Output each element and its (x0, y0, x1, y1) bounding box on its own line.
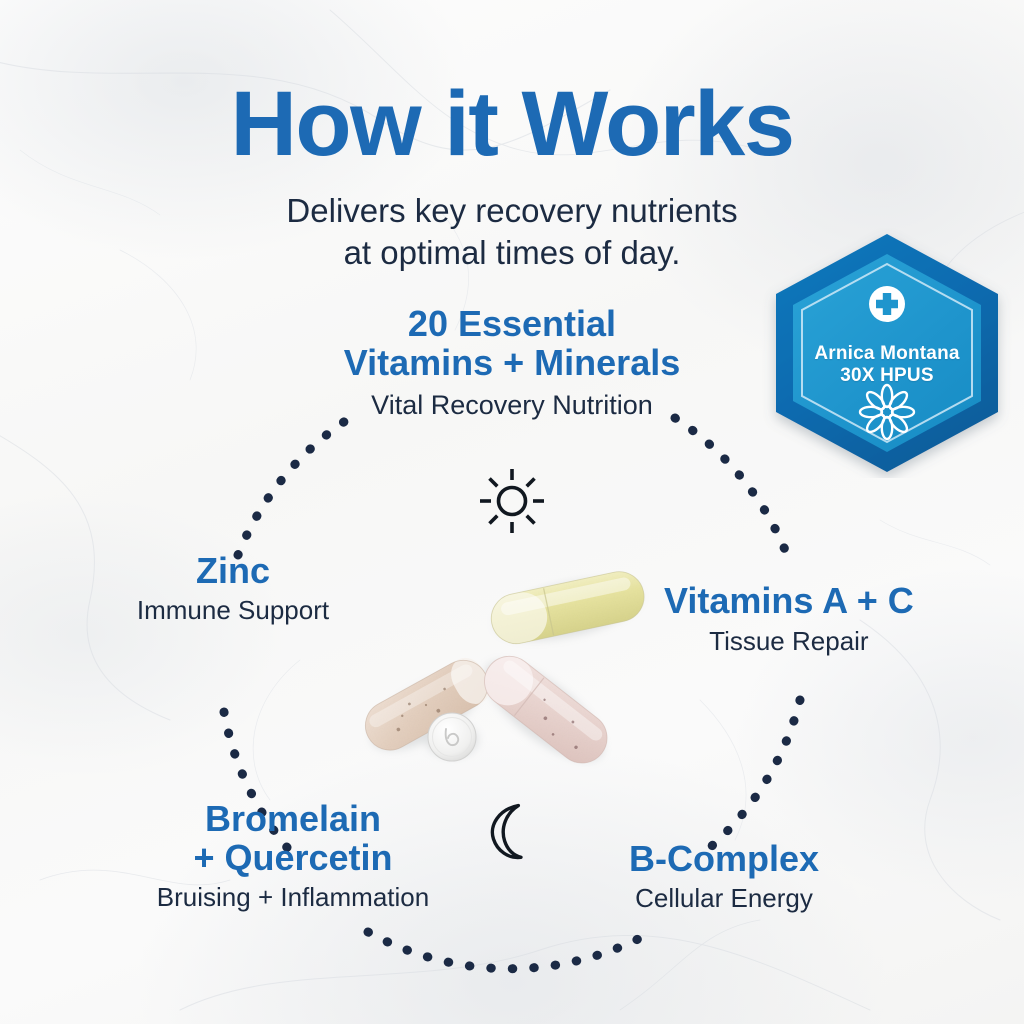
nutrient-node-b-complex: B-Complex Cellular Energy (604, 840, 844, 914)
supplement-capsules-photo (330, 535, 700, 825)
nutrient-node-bromelain-quercetin: Bromelain + Quercetin Bruising + Inflamm… (128, 800, 458, 913)
nutrient-heading-line-1: 20 Essential (344, 305, 680, 344)
nutrient-subtext: Cellular Energy (604, 883, 844, 914)
nutrient-heading-line-1: Bromelain (128, 800, 458, 839)
nutrient-node-vitamins-a-c: Vitamins A + C Tissue Repair (664, 582, 914, 657)
medical-plus-icon (869, 286, 905, 322)
nutrient-heading-line-1: Vitamins A + C (664, 582, 914, 621)
nutrient-heading-line-1: Zinc (108, 552, 358, 591)
nutrient-subtext: Bruising + Inflammation (128, 882, 458, 913)
nutrient-heading-line-2: Vitamins + Minerals (344, 344, 680, 383)
infographic-canvas: How it Works Delivers key recovery nutri… (0, 0, 1024, 1024)
nutrient-subtext: Immune Support (108, 595, 358, 626)
nutrient-subtext: Tissue Repair (664, 626, 914, 657)
badge-label: Arnica Montana 30X HPUS (762, 343, 1012, 388)
white-round-tablet (428, 713, 476, 761)
arnica-montana-badge: Arnica Montana 30X HPUS (762, 228, 1012, 478)
nutrient-subtext: Vital Recovery Nutrition (344, 389, 680, 421)
sun-icon (478, 467, 546, 535)
nutrient-node-zinc: Zinc Immune Support (108, 552, 358, 626)
badge-label-line-1: Arnica Montana (762, 343, 1012, 365)
nutrient-node-essential-vitamins-minerals: 20 Essential Vitamins + Minerals Vital R… (344, 305, 680, 421)
nutrient-heading-line-1: B-Complex (604, 840, 844, 879)
badge-label-line-2: 30X HPUS (762, 365, 1012, 387)
nutrient-heading-line-2: + Quercetin (128, 839, 458, 878)
pink-capsule (474, 646, 617, 773)
